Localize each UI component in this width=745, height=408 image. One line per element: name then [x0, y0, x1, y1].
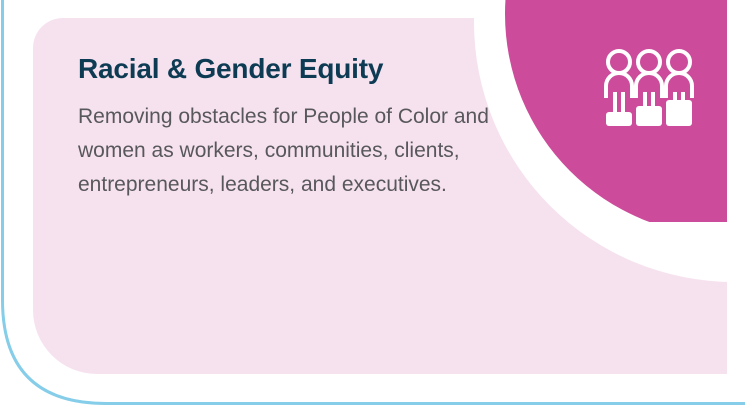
card-title: Racial & Gender Equity — [78, 52, 498, 86]
card-text-block: Racial & Gender Equity Removing obstacle… — [78, 52, 498, 202]
people-group-icon — [603, 48, 695, 130]
equity-card: Racial & Gender Equity Removing obstacle… — [0, 0, 745, 408]
card-description: Removing obstacles for People of Color a… — [78, 86, 498, 202]
